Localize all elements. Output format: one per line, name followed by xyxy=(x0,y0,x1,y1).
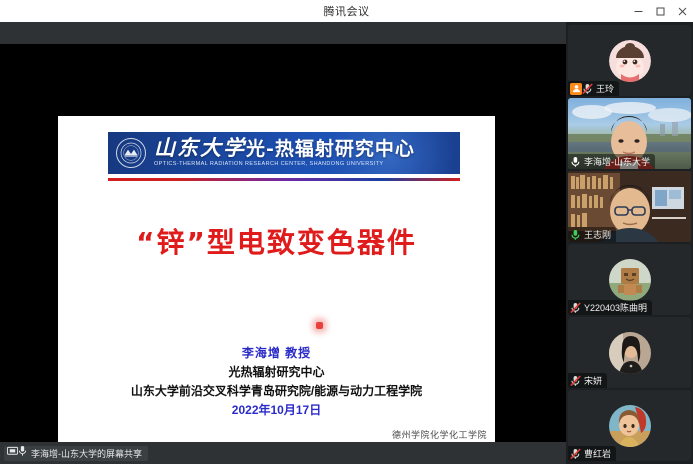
window-titlebar: 腾讯会议 xyxy=(0,0,693,22)
slide-presenter-block: 李海增 教授 光热辐射研究中心 山东大学前沿交叉科学青岛研究院/能源与动力工程学… xyxy=(58,344,495,420)
mic-muted-icon xyxy=(570,447,581,460)
mic-muted-icon xyxy=(570,374,581,387)
participant-nameplate: 李海增-山东大学 xyxy=(568,154,655,169)
screen-share-indicator[interactable]: 李海增-山东大学的屏幕共享 xyxy=(4,446,148,461)
slide-footer-watermark: 德州学院化学化工学院 xyxy=(392,428,487,441)
shandong-university-seal-icon xyxy=(116,138,146,168)
participant-tile[interactable]: 李海增-山东大学 xyxy=(568,98,691,169)
close-button-icon[interactable] xyxy=(671,0,693,22)
minimize-button-icon[interactable] xyxy=(627,0,649,22)
participant-name: Y220403陈曲明 xyxy=(584,301,647,314)
window-controls xyxy=(627,0,693,22)
banner-university-name: 山东大学 xyxy=(154,135,246,160)
mic-on-icon xyxy=(570,155,581,168)
participant-nameplate: Y220403陈曲明 xyxy=(568,300,652,315)
banner-divider-rule xyxy=(108,178,460,181)
presenter-name: 李海增 教授 xyxy=(58,344,495,363)
avatar xyxy=(609,259,651,301)
slide-banner: 山东大学光-热辐射研究中心 OPTICS-THERMAL RADIATION R… xyxy=(108,132,460,174)
participant-nameplate: 宋妍 xyxy=(568,373,607,388)
participant-nameplate: 曹红岩 xyxy=(568,446,616,461)
participant-name: 李海增-山东大学 xyxy=(584,155,650,168)
avatar xyxy=(609,405,651,447)
screen-share-icon xyxy=(7,444,18,462)
banner-center-name: 光-热辐射研究中心 xyxy=(246,138,415,160)
participant-name: 王志刚 xyxy=(584,228,611,241)
participant-name: 宋妍 xyxy=(584,374,602,387)
mic-active-icon xyxy=(570,228,581,241)
mic-muted-icon xyxy=(582,82,593,95)
participant-tile[interactable]: 宋妍 xyxy=(568,317,691,388)
host-badge-icon xyxy=(570,83,582,95)
mic-muted-icon xyxy=(570,301,581,314)
app-title: 腾讯会议 xyxy=(324,3,370,19)
maximize-button-icon[interactable] xyxy=(649,0,671,22)
presenter-org-line2: 山东大学前沿交叉科学青岛研究院/能源与动力工程学院 xyxy=(58,382,495,401)
bottom-status-bar: 李海增-山东大学的屏幕共享 xyxy=(0,442,566,464)
participant-tile[interactable]: 王志刚 xyxy=(568,171,691,242)
banner-title-en: OPTICS-THERMAL RADIATION RESEARCH CENTER… xyxy=(154,160,415,169)
banner-text-block: 山东大学光-热辐射研究中心 OPTICS-THERMAL RADIATION R… xyxy=(154,137,415,169)
shared-screen-canvas: 山东大学光-热辐射研究中心 OPTICS-THERMAL RADIATION R… xyxy=(0,44,566,442)
participant-name: 曹红岩 xyxy=(584,447,611,460)
presentation-slide: 山东大学光-热辐射研究中心 OPTICS-THERMAL RADIATION R… xyxy=(58,116,495,445)
meeting-content: 山东大学光-热辐射研究中心 OPTICS-THERMAL RADIATION R… xyxy=(0,22,693,464)
shared-screen-area[interactable]: 山东大学光-热辐射研究中心 OPTICS-THERMAL RADIATION R… xyxy=(0,22,566,442)
laser-pointer-dot xyxy=(316,322,323,329)
slide-main-title: “锌”型电致变色器件 xyxy=(58,221,495,261)
participant-tile[interactable]: Y220403陈曲明 xyxy=(568,244,691,315)
participant-nameplate: 王志刚 xyxy=(568,227,616,242)
screen-share-label: 李海增-山东大学的屏幕共享 xyxy=(31,447,142,460)
banner-title-cn: 山东大学光-热辐射研究中心 xyxy=(154,137,415,160)
avatar xyxy=(609,332,651,374)
participant-tile[interactable]: 曹红岩 xyxy=(568,390,691,461)
presentation-date: 2022年10月17日 xyxy=(58,401,495,420)
participant-nameplate: 王玲 xyxy=(568,81,619,96)
participant-filmstrip[interactable]: 王玲 xyxy=(566,22,693,464)
tencent-meeting-window: 腾讯会议 xyxy=(0,0,693,464)
avatar xyxy=(609,40,651,82)
presenter-org-line1: 光热辐射研究中心 xyxy=(58,363,495,382)
microphone-icon xyxy=(18,444,27,462)
participant-name: 王玲 xyxy=(596,82,614,95)
participant-tile[interactable]: 王玲 xyxy=(568,25,691,96)
